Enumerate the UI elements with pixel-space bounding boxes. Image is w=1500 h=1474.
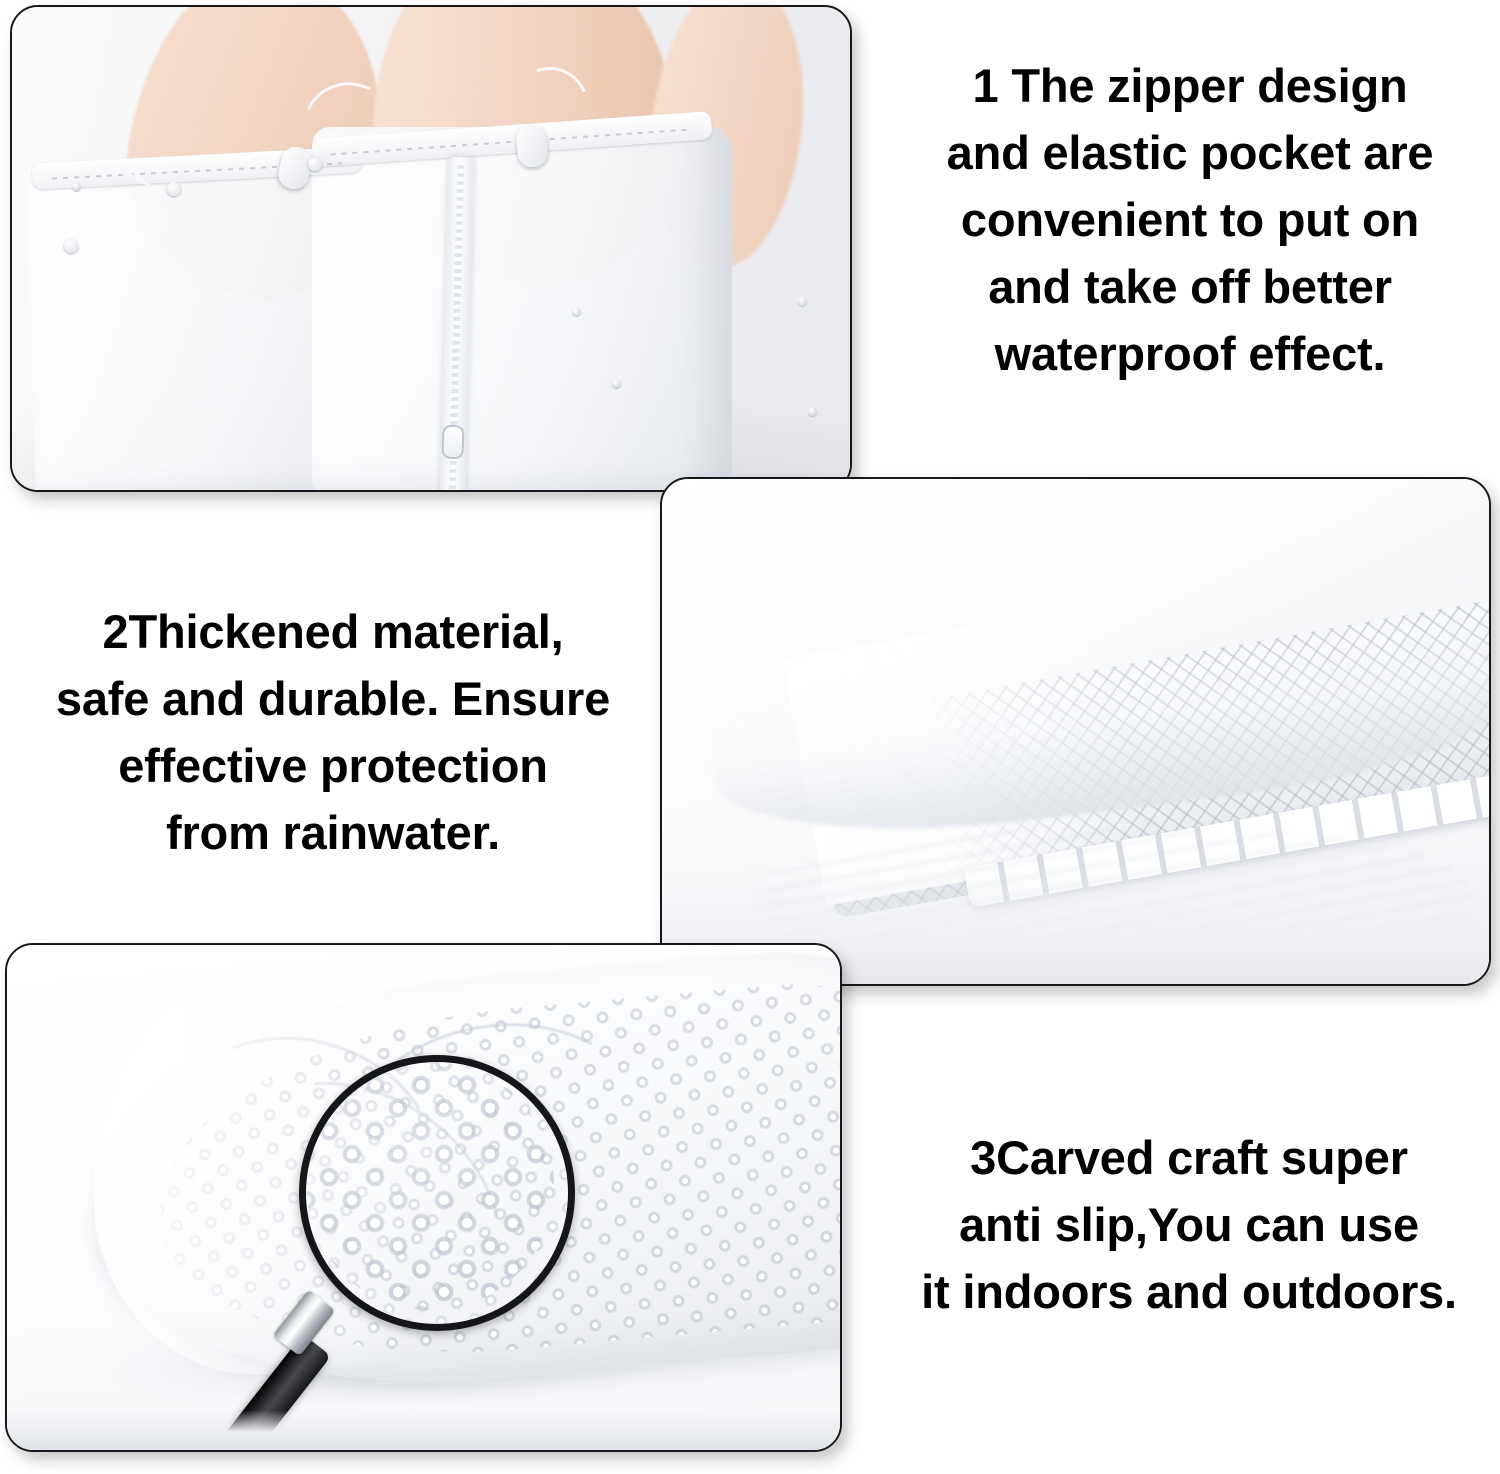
zipper-pull: [441, 425, 464, 460]
photo-sole-dots-magnified: [7, 945, 840, 1450]
snap-button-4: [798, 297, 807, 306]
cord-end-bead-1: [64, 239, 78, 253]
cord-end-bead-3: [308, 157, 322, 171]
feature-text-1: 1 The zipper design and elastic pocket a…: [880, 52, 1500, 387]
table-surface: [7, 1410, 840, 1450]
photo-legs-in-shoe-covers: [12, 7, 850, 490]
snap-button-5: [808, 407, 817, 416]
feature-text-3: 3Carved craft super anti slip,You can us…: [878, 1124, 1500, 1325]
photo-sole-edge-texture: [662, 479, 1489, 984]
cord-end-bead-2: [167, 182, 181, 196]
product-feature-infographic: 1 The zipper design and elastic pocket a…: [0, 0, 1500, 1474]
photo-panel-zipper-shoe-covers: [10, 5, 852, 492]
feature-text-2: 2Thickened material, safe and durable. E…: [8, 598, 658, 866]
shoe-cover-right: [312, 127, 732, 490]
snap-button-1: [72, 182, 81, 191]
photo-panel-antislip-sole-magnifier: [5, 943, 842, 1452]
snap-button-3: [612, 379, 621, 388]
photo-panel-thickened-sole-edge: [660, 477, 1491, 986]
cord-lock-toggle-right: [515, 124, 549, 169]
magnifying-glass-icon: [299, 1055, 575, 1331]
snap-button-2: [572, 307, 581, 316]
